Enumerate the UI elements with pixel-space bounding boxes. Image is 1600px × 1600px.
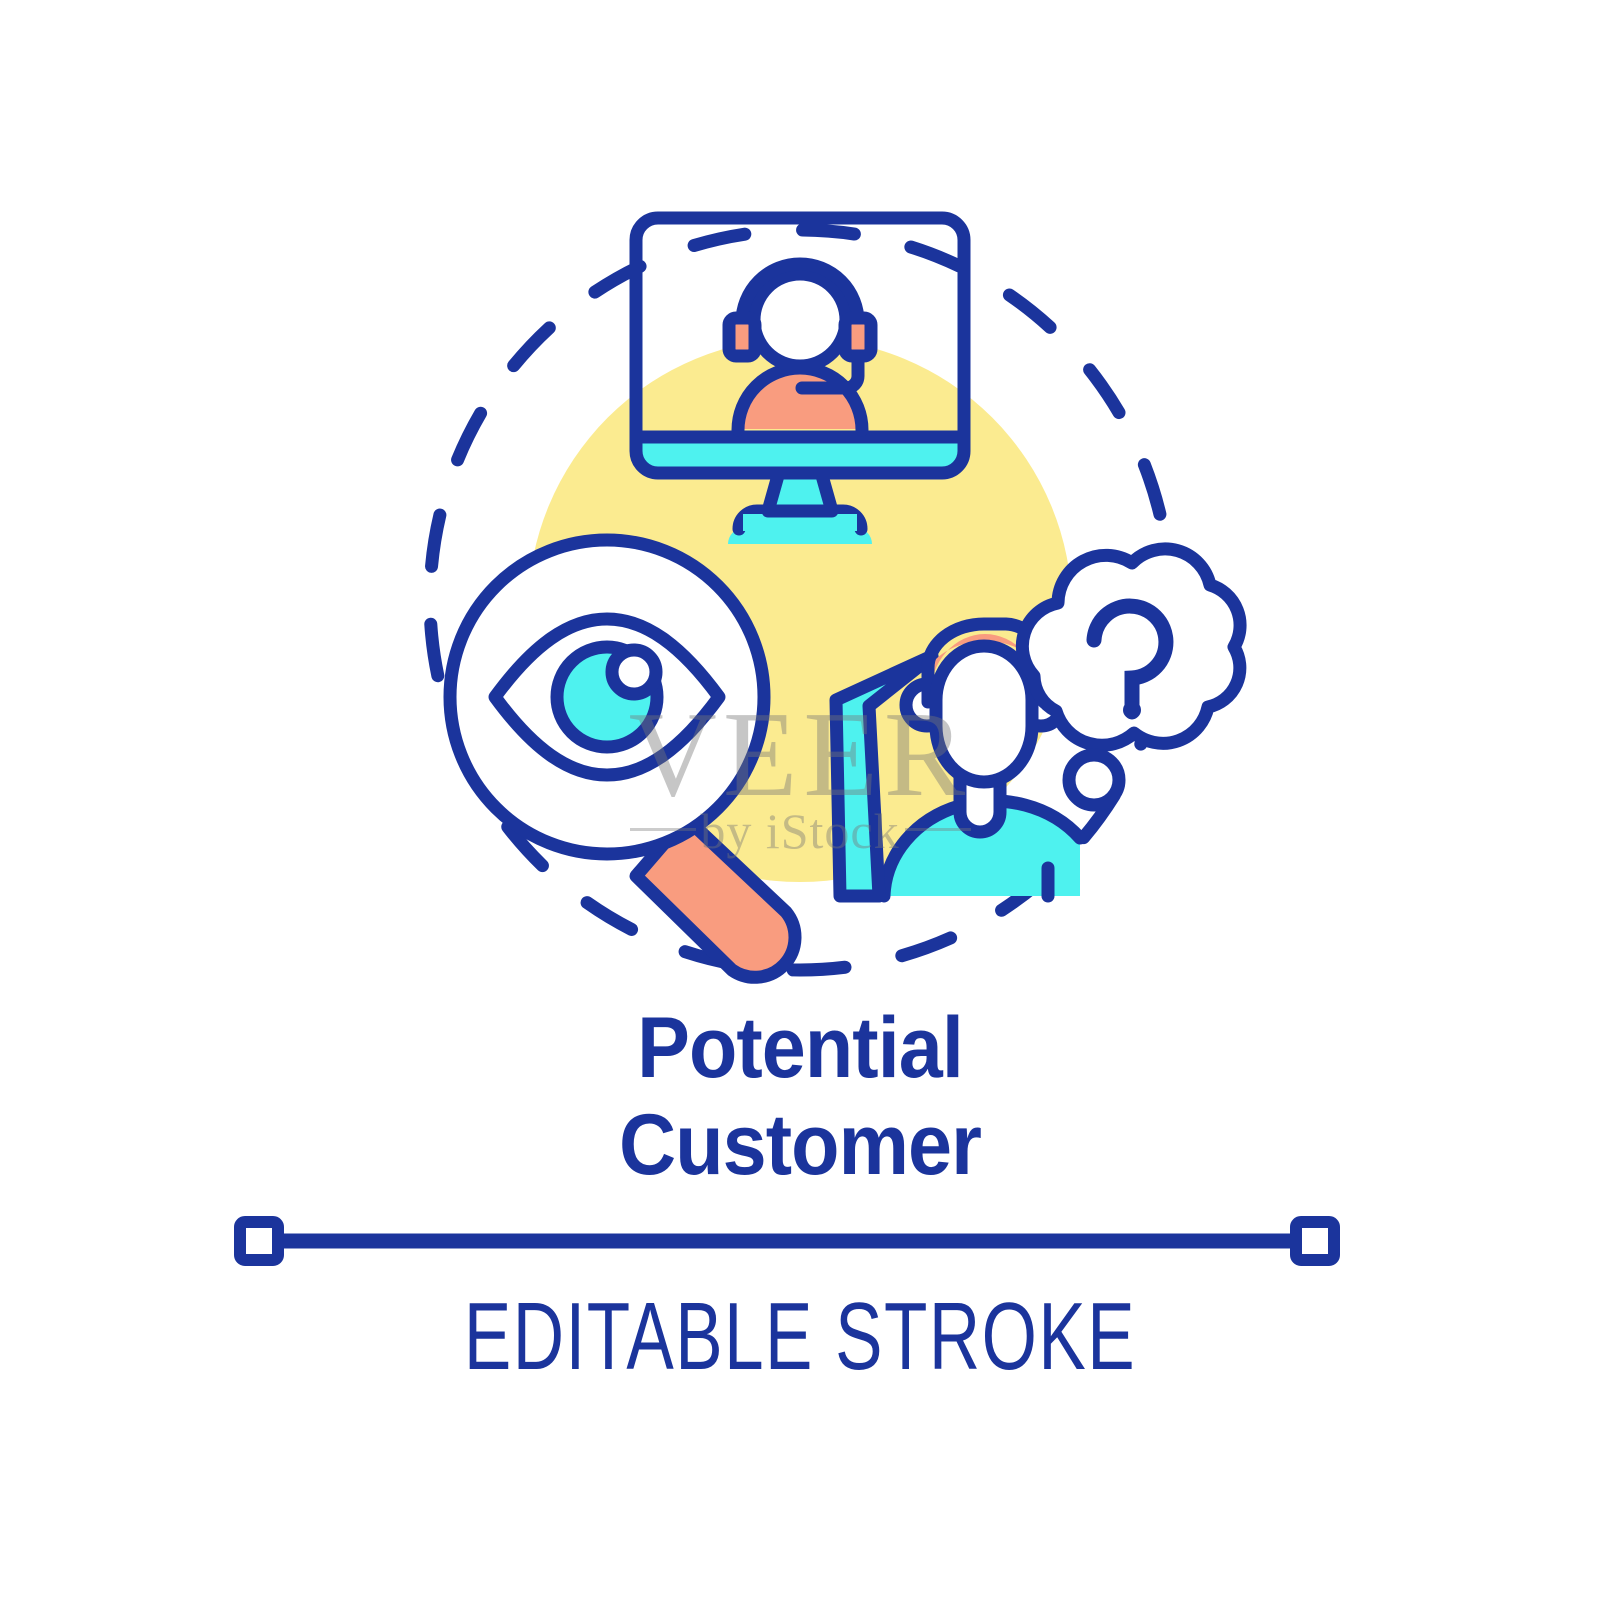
eye-highlight [612,650,656,694]
person-face [936,646,1032,782]
stroke-width-indicator [240,1222,1334,1260]
illustration-canvas: Potential Customer EDITABLE STROKE VEER … [0,0,1600,1600]
agent-head [754,274,846,366]
headset-earpiece-left [729,318,755,356]
stroke-handle-left [240,1222,278,1260]
thought-bubble-small [1069,755,1119,805]
question-mark-dot [1123,701,1141,719]
editable-stroke-caption: EDITABLE STROKE [208,1282,1392,1392]
stroke-handle-right [1296,1222,1334,1260]
